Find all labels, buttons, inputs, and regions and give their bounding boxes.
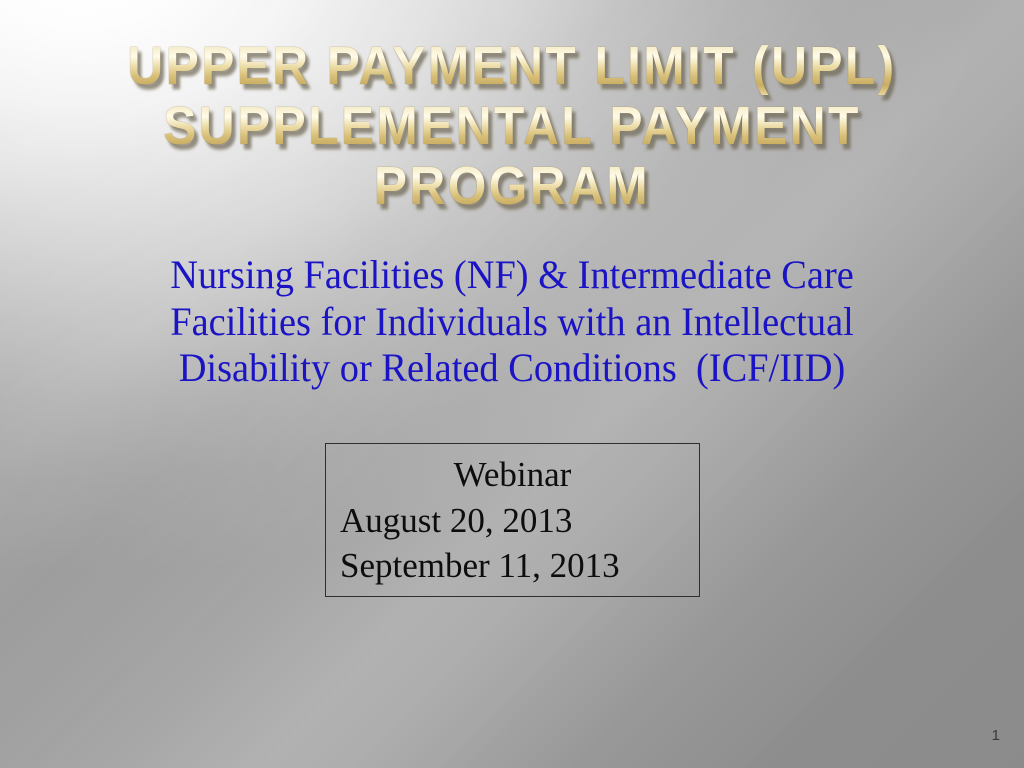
slide-subtitle-line-3: Disability or Related Conditions (ICF/II… <box>55 345 969 392</box>
slide-subtitle-line-2: Facilities for Individuals with an Intel… <box>55 299 969 346</box>
webinar-date-1: August 20, 2013 <box>326 498 699 544</box>
slide-title-line-2: Supplemental Payment <box>98 98 926 158</box>
webinar-date-2: September 11, 2013 <box>326 543 699 589</box>
webinar-date-box: Webinar August 20, 2013 September 11, 20… <box>325 443 700 597</box>
slide-subtitle-line-1: Nursing Facilities (NF) & Intermediate C… <box>55 252 969 299</box>
slide-title-line-1: Upper Payment Limit (UPL) <box>98 38 926 98</box>
slide-title-line-3: Program <box>98 158 926 218</box>
slide-title: Upper Payment Limit (UPL) Supplemental P… <box>62 38 962 218</box>
presentation-slide: Upper Payment Limit (UPL) Supplemental P… <box>0 0 1024 768</box>
page-number: 1 <box>992 727 1000 744</box>
slide-subtitle: Nursing Facilities (NF) & Intermediate C… <box>36 252 988 392</box>
webinar-label: Webinar <box>326 452 699 498</box>
webinar-date-box-content: Webinar August 20, 2013 September 11, 20… <box>326 452 699 589</box>
